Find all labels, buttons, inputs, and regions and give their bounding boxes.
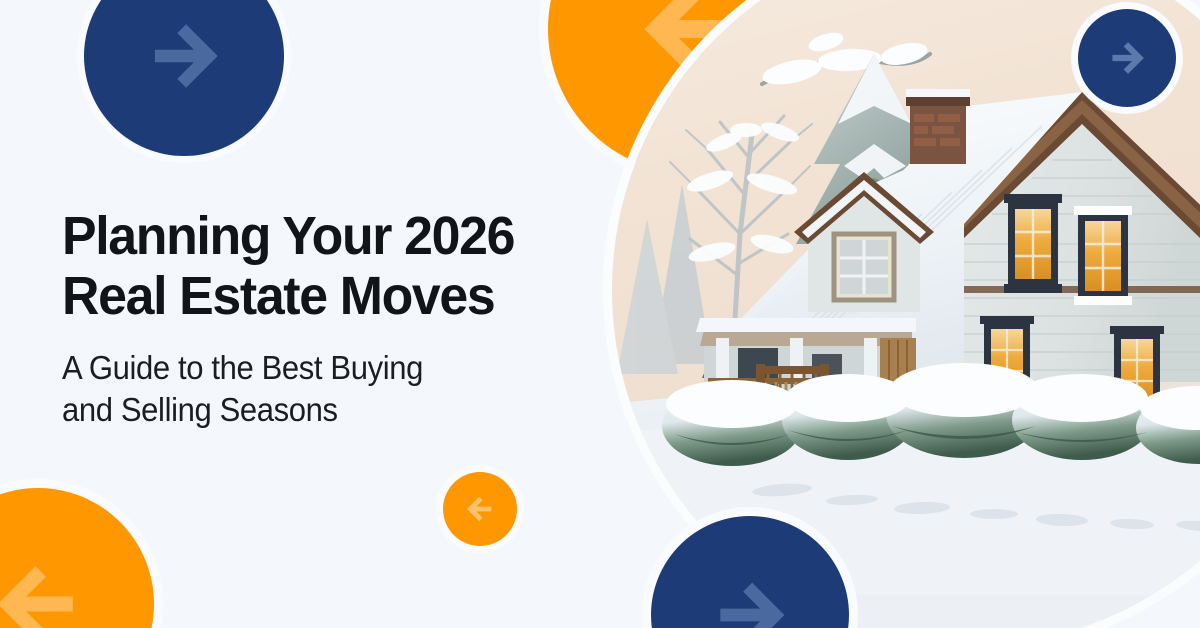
navy-circle-top-left	[84, 0, 284, 156]
arrow-left-icon	[0, 542, 100, 628]
blog-banner: Planning Your 2026 Real Estate Moves A G…	[0, 0, 1200, 628]
chimney	[906, 89, 970, 164]
arrow-right-icon	[1101, 32, 1153, 84]
page-subtitle: A Guide to the Best Buying and Selling S…	[62, 347, 570, 430]
orange-circle-small	[443, 472, 517, 546]
gable-window-right	[1074, 206, 1132, 305]
arrow-left-icon	[460, 489, 500, 529]
arrow-right-icon	[132, 4, 236, 108]
page-title: Planning Your 2026 Real Estate Moves	[62, 206, 580, 327]
arrow-right-icon	[697, 562, 803, 628]
gable-window-left	[1004, 194, 1062, 293]
navy-circle-top-right	[1078, 9, 1176, 107]
text-block: Planning Your 2026 Real Estate Moves A G…	[62, 206, 602, 430]
orange-circle-bottom-left	[0, 488, 154, 628]
